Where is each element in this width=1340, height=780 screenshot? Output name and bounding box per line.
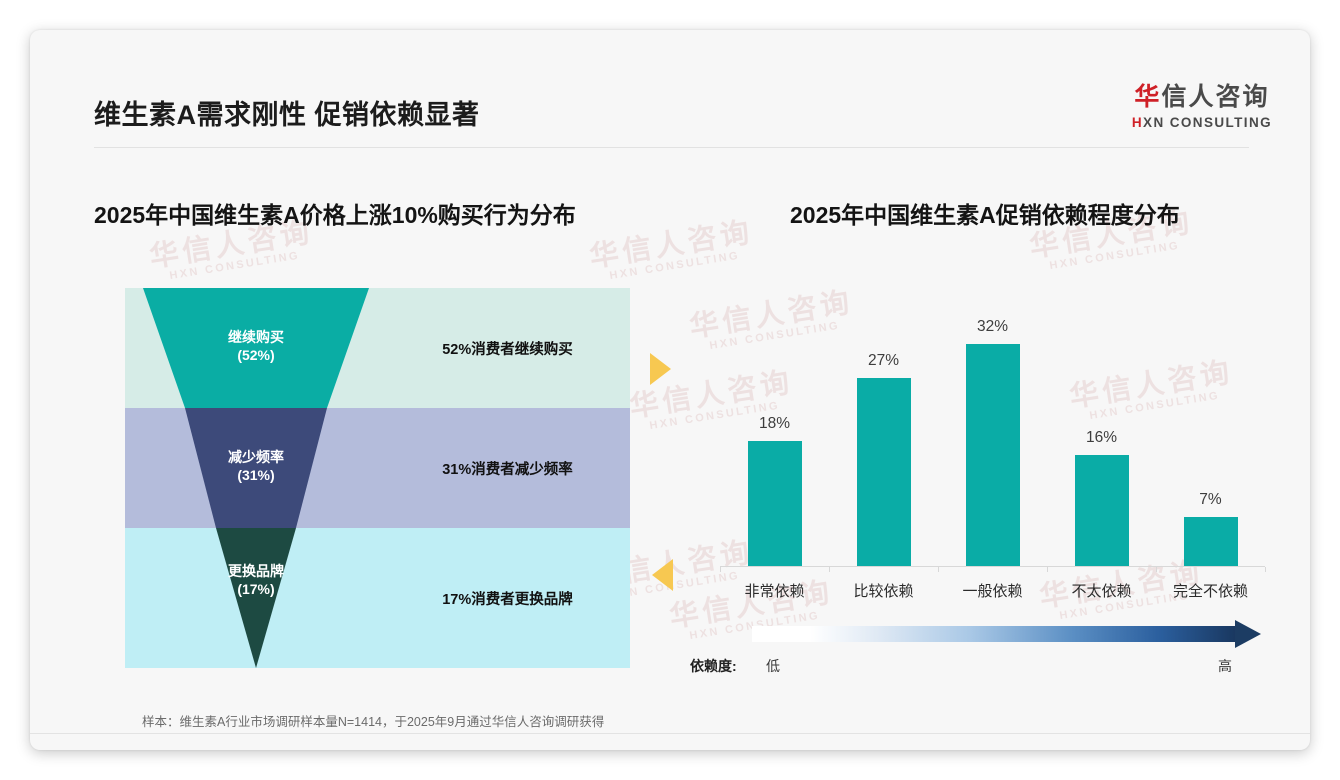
bar-category-label: 非常依赖 xyxy=(720,580,829,601)
funnel-band-label: 17%消费者更换品牌 xyxy=(385,588,630,609)
sample-note: 样本：维生素A行业市场调研样本量N=1414，于2025年9月通过华信人咨询调研… xyxy=(142,711,604,730)
bar-value-label: 18% xyxy=(720,415,829,433)
x-axis-tick xyxy=(829,567,830,572)
gradient-arrow xyxy=(752,620,1270,648)
x-axis-tick xyxy=(938,567,939,572)
bar-column: 32% xyxy=(938,288,1047,566)
bar-plot-area: 18%27%32%16%7% xyxy=(720,288,1265,566)
x-axis-tick xyxy=(1047,567,1048,572)
bar xyxy=(748,441,802,566)
bar-value-label: 7% xyxy=(1156,491,1265,509)
play-triangle-left-icon xyxy=(652,559,673,591)
watermark: 华信人咨询 HXN CONSULTING xyxy=(588,217,758,285)
x-axis-line xyxy=(720,566,1265,567)
bar-category-label: 一般依赖 xyxy=(938,580,1047,601)
bar-value-label: 27% xyxy=(829,352,938,370)
watermark-en: HXN CONSULTING xyxy=(153,248,318,285)
bar xyxy=(1075,455,1129,566)
bar-category-label: 不太依赖 xyxy=(1047,580,1156,601)
watermark-en: HXN CONSULTING xyxy=(1033,238,1198,275)
legend-high-label: 高 xyxy=(1218,656,1232,676)
funnel-label-value: (31%) xyxy=(237,467,274,483)
logo-en-red: H xyxy=(1132,115,1143,130)
legend-label: 依赖度: xyxy=(690,656,737,676)
bar-column: 18% xyxy=(720,288,829,566)
logo-chinese: 华信人咨询 xyxy=(1132,85,1272,110)
funnel-label-switch: 更换品牌(17%) xyxy=(186,562,326,599)
funnel-label-name: 继续购买 xyxy=(228,329,284,345)
slide-card: 华信人咨询 HXN CONSULTING 华信人咨询 HXN CONSULTIN… xyxy=(30,30,1310,750)
bar xyxy=(857,378,911,566)
x-axis-tick xyxy=(720,567,721,572)
bar-column: 27% xyxy=(829,288,938,566)
bar-category-label: 完全不依赖 xyxy=(1156,580,1265,601)
funnel-chart: 继续购买(52%) 减少频率(31%) 更换品牌(17%) 52%消费者继续购买… xyxy=(125,288,630,668)
logo-english: HXN CONSULTING xyxy=(1132,116,1272,130)
header-divider xyxy=(94,147,1249,148)
page-title: 维生素A需求刚性 促销依赖显著 xyxy=(94,93,480,132)
bar xyxy=(966,344,1020,566)
arrow-head-icon xyxy=(1235,620,1261,648)
funnel-label-continue: 继续购买(52%) xyxy=(186,328,326,365)
left-chart-title: 2025年中国维生素A价格上涨10%购买行为分布 xyxy=(94,196,576,230)
right-chart-title: 2025年中国维生素A促销依赖程度分布 xyxy=(790,196,1180,230)
bar-chart: 18%27%32%16%7% 非常依赖比较依赖一般依赖不太依赖完全不依赖 xyxy=(690,288,1270,608)
company-logo: 华信人咨询 HXN CONSULTING xyxy=(1132,85,1272,130)
funnel-band-label: 31%消费者减少频率 xyxy=(385,458,630,479)
bar-column: 16% xyxy=(1047,288,1156,566)
footer-website: www.hxrcon.com xyxy=(1151,749,1242,750)
bar-category-label: 比较依赖 xyxy=(829,580,938,601)
funnel-label-value: (52%) xyxy=(237,347,274,363)
funnel-label-name: 减少频率 xyxy=(228,449,284,465)
dependency-gradient-legend: 依赖度: 低 高 xyxy=(690,620,1270,690)
header: 维生素A需求刚性 促销依赖显著 华信人咨询 HXN CONSULTING xyxy=(30,30,1310,120)
x-axis-tick xyxy=(1156,567,1157,572)
logo-cn-dark: 信人咨询 xyxy=(1161,83,1269,111)
footer-divider xyxy=(30,733,1310,734)
watermark-cn: 华信人咨询 xyxy=(588,217,756,273)
funnel-label-reduce: 减少频率(31%) xyxy=(186,448,326,485)
x-axis-tick xyxy=(1265,567,1266,572)
funnel-band-label: 52%消费者继续购买 xyxy=(385,338,630,359)
legend-low-label: 低 xyxy=(766,656,780,676)
footer-copyright: ©2025.11 HXR华信人咨询 xyxy=(98,749,238,750)
funnel-label-name: 更换品牌 xyxy=(228,563,284,579)
bar xyxy=(1184,517,1238,566)
bar-value-label: 16% xyxy=(1047,429,1156,447)
gradient-bar xyxy=(752,626,1237,642)
logo-en-rest: XN CONSULTING xyxy=(1143,115,1272,130)
bar-value-label: 32% xyxy=(938,318,1047,336)
bar-column: 7% xyxy=(1156,288,1265,566)
watermark-en: HXN CONSULTING xyxy=(593,248,758,285)
funnel-label-value: (17%) xyxy=(237,581,274,597)
play-triangle-right-icon xyxy=(650,353,671,385)
logo-cn-red: 华 xyxy=(1134,83,1161,111)
